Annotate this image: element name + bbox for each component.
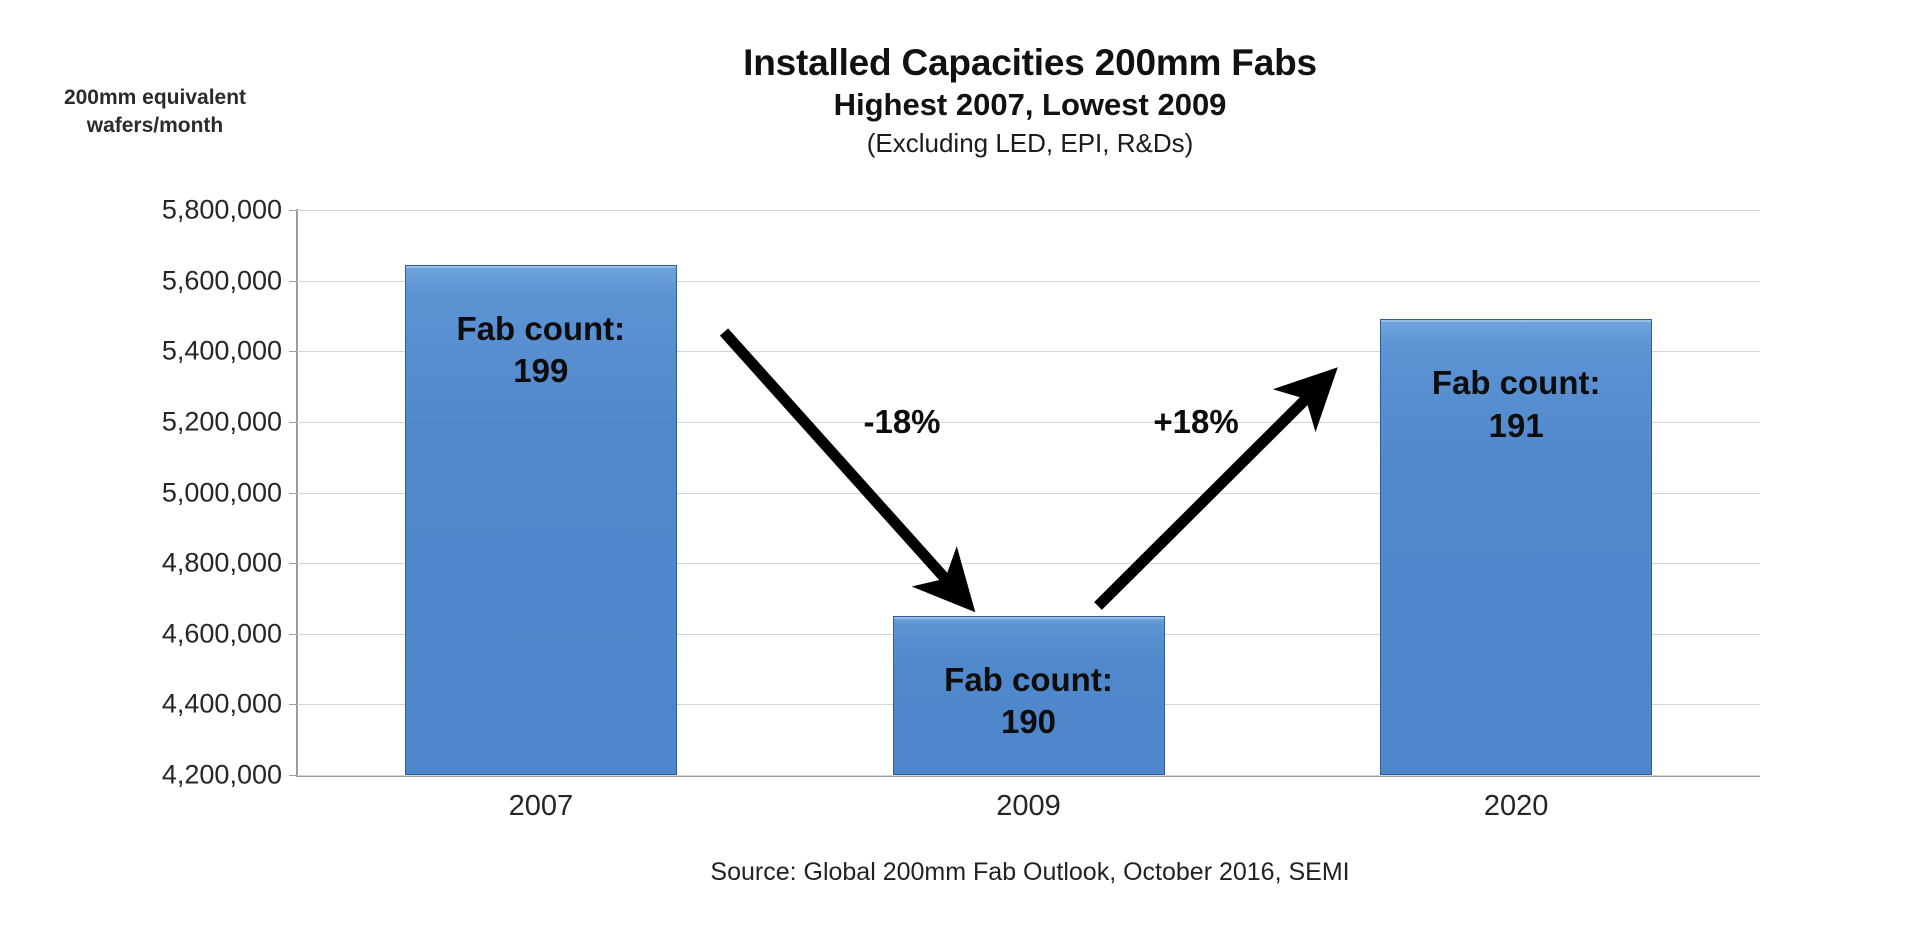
y-axis-tick xyxy=(289,422,297,423)
y-axis-tick xyxy=(289,493,297,494)
bar-label-value: 190 xyxy=(894,701,1164,743)
y-axis-tick xyxy=(289,775,297,776)
plot-area: Fab count:199Fab count:190Fab count:191 xyxy=(297,210,1760,775)
y-axis-tick xyxy=(289,563,297,564)
title-block: Installed Capacities 200mm Fabs Highest … xyxy=(300,42,1760,159)
y-axis-tick xyxy=(289,634,297,635)
bar-label-value: 199 xyxy=(406,350,676,392)
bar-data-label-2020: Fab count:191 xyxy=(1381,362,1651,446)
chart-subtitle-secondary: (Excluding LED, EPI, R&Ds) xyxy=(300,128,1760,159)
y-axis-tick-label: 5,600,000 xyxy=(67,265,282,296)
x-axis-tick-labels: 200720092020 xyxy=(297,790,1760,834)
annotation-decline-pct: -18% xyxy=(863,403,940,441)
x-axis-tick-label-2009: 2009 xyxy=(909,790,1149,823)
x-axis-tick-label-2020: 2020 xyxy=(1396,790,1636,823)
bar-label-caption: Fab count: xyxy=(894,659,1164,701)
bar-2007[interactable]: Fab count:199 xyxy=(405,265,677,775)
x-axis-tick-label-2007: 2007 xyxy=(421,790,661,823)
gridline xyxy=(297,210,1760,211)
y-axis-tick xyxy=(289,210,297,211)
y-axis-tick-labels: 5,800,0005,600,0005,400,0005,200,0005,00… xyxy=(60,210,282,775)
chart-canvas: 200mm equivalent wafers/month Installed … xyxy=(0,0,1920,933)
bar-2009[interactable]: Fab count:190 xyxy=(893,616,1165,775)
chart-title: Installed Capacities 200mm Fabs xyxy=(300,42,1760,83)
bar-data-label-2009: Fab count:190 xyxy=(894,659,1164,743)
bar-data-label-2007: Fab count:199 xyxy=(406,308,676,392)
chart-subtitle: Highest 2007, Lowest 2009 xyxy=(300,87,1760,124)
bar-label-caption: Fab count: xyxy=(406,308,676,350)
y-axis-tick-label: 5,400,000 xyxy=(67,336,282,367)
y-axis-tick-label: 4,600,000 xyxy=(67,618,282,649)
bar-2020[interactable]: Fab count:191 xyxy=(1380,319,1652,775)
y-axis-tick-label: 4,800,000 xyxy=(67,548,282,579)
y-axis-tick-label: 5,800,000 xyxy=(67,195,282,226)
y-axis-tick xyxy=(289,704,297,705)
y-axis-tick xyxy=(289,281,297,282)
gridline xyxy=(297,775,1760,776)
bar-label-value: 191 xyxy=(1381,405,1651,447)
y-axis-tick-label: 5,000,000 xyxy=(67,477,282,508)
annotation-growth-pct: +18% xyxy=(1153,403,1238,441)
y-axis-tick-label: 5,200,000 xyxy=(67,406,282,437)
y-axis-tick-label: 4,400,000 xyxy=(67,689,282,720)
source-note: Source: Global 200mm Fab Outlook, Octobe… xyxy=(300,858,1760,887)
y-axis-tick-label: 4,200,000 xyxy=(67,760,282,791)
y-axis-title: 200mm equivalent wafers/month xyxy=(18,84,292,141)
bar-label-caption: Fab count: xyxy=(1381,362,1651,404)
y-axis-tick xyxy=(289,351,297,352)
